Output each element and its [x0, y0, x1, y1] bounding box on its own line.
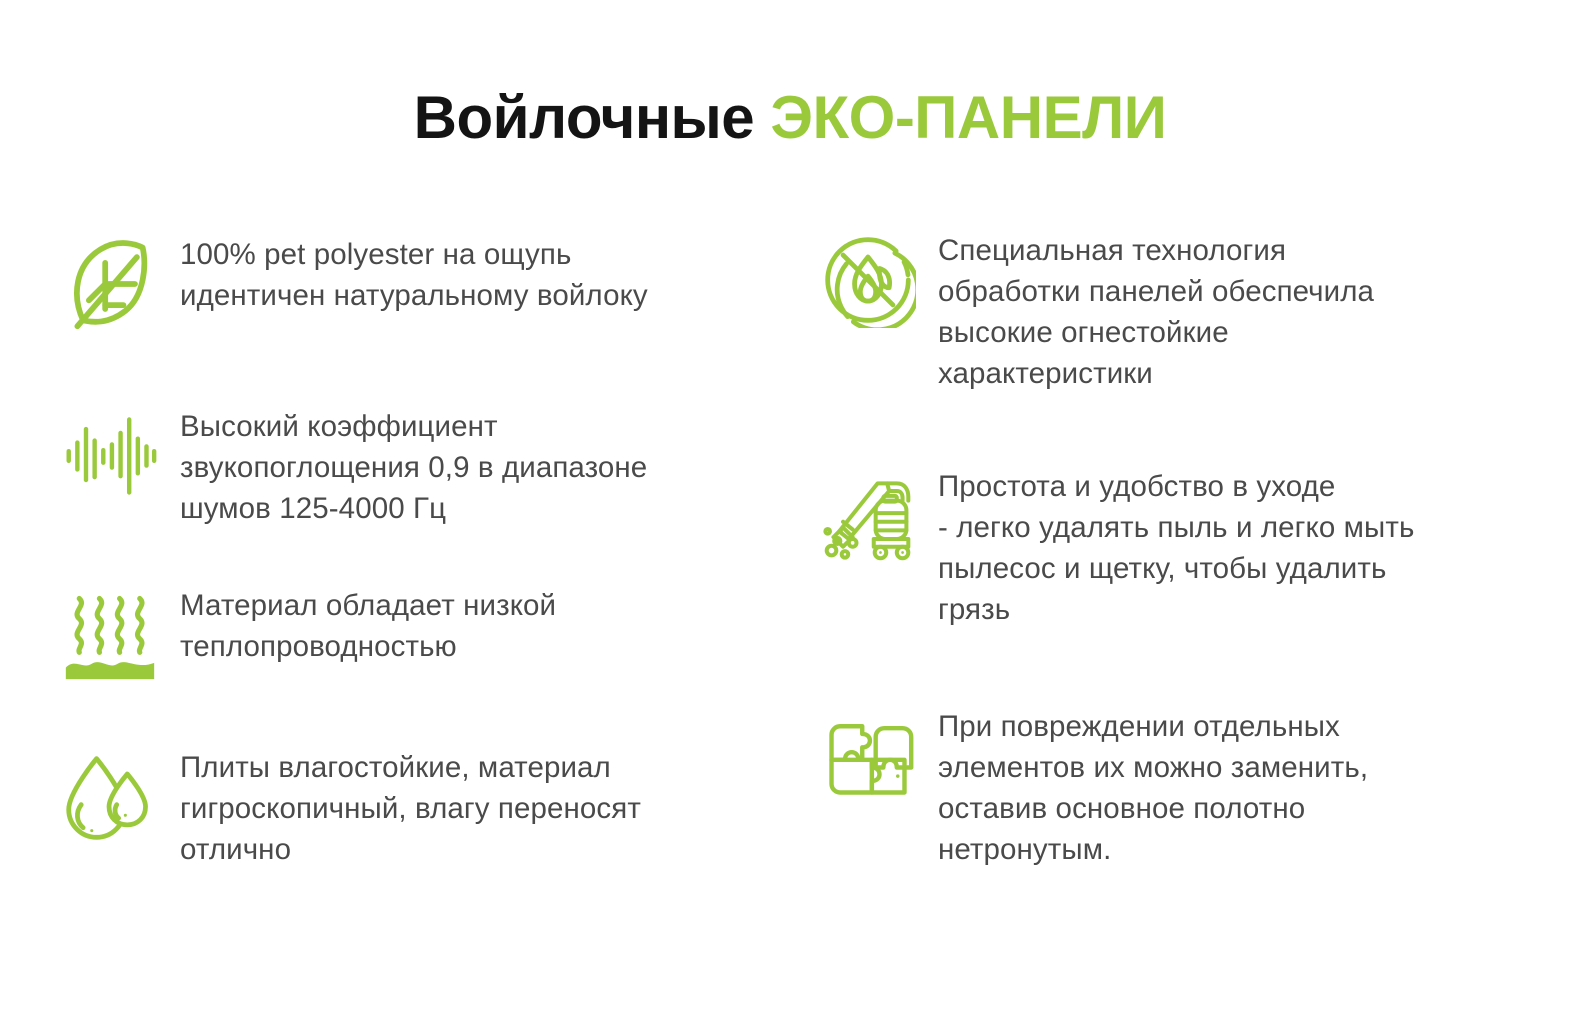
feature-text: Плиты влагостойкие, материал гигроскопич…	[180, 743, 641, 870]
features-grid: 100% pet polyester на ощупь идентичен на…	[0, 218, 1580, 870]
right-feature-column: Специальная технология обработки панелей…	[790, 218, 1580, 870]
feature-item: При повреждении отдельных элементов их м…	[820, 702, 1540, 870]
page-title-green-part: ЭКО-ПАНЕЛИ	[770, 84, 1166, 151]
page-title-dark-part: Войлочные	[414, 84, 755, 151]
feature-item: Специальная технология обработки панелей…	[820, 226, 1540, 394]
feature-text: Простота и удобство в уходе - легко удал…	[938, 462, 1414, 630]
feature-item: Высокий коэффициент звукопоглощения 0,9 …	[62, 402, 766, 529]
feature-text: При повреждении отдельных элементов их м…	[938, 702, 1368, 870]
leaf-icon	[62, 230, 180, 342]
no-fire-icon	[820, 226, 938, 338]
left-feature-column: 100% pet polyester на ощупь идентичен на…	[0, 218, 790, 870]
page-title: Войлочные ЭКО-ПАНЕЛИ	[0, 86, 1580, 149]
water-drop-icon	[62, 743, 180, 855]
heat-waves-icon	[62, 581, 180, 693]
feature-text: Высокий коэффициент звукопоглощения 0,9 …	[180, 402, 647, 529]
header: Войлочные ЭКО-ПАНЕЛИ	[0, 0, 1580, 149]
feature-item: Материал обладает низкой теплопроводност…	[62, 581, 766, 693]
feature-text: Материал обладает низкой теплопроводност…	[180, 581, 556, 667]
feature-item: Плиты влагостойкие, материал гигроскопич…	[62, 743, 766, 870]
feature-item: 100% pet polyester на ощупь идентичен на…	[62, 230, 766, 342]
feature-text: 100% pet polyester на ощупь идентичен на…	[180, 230, 648, 316]
sound-wave-icon	[62, 402, 180, 514]
puzzle-pieces-icon	[820, 702, 938, 814]
feature-item: Простота и удобство в уходе - легко удал…	[820, 462, 1540, 630]
feature-text: Специальная технология обработки панелей…	[938, 226, 1374, 394]
vacuum-cleaner-icon	[820, 462, 938, 574]
